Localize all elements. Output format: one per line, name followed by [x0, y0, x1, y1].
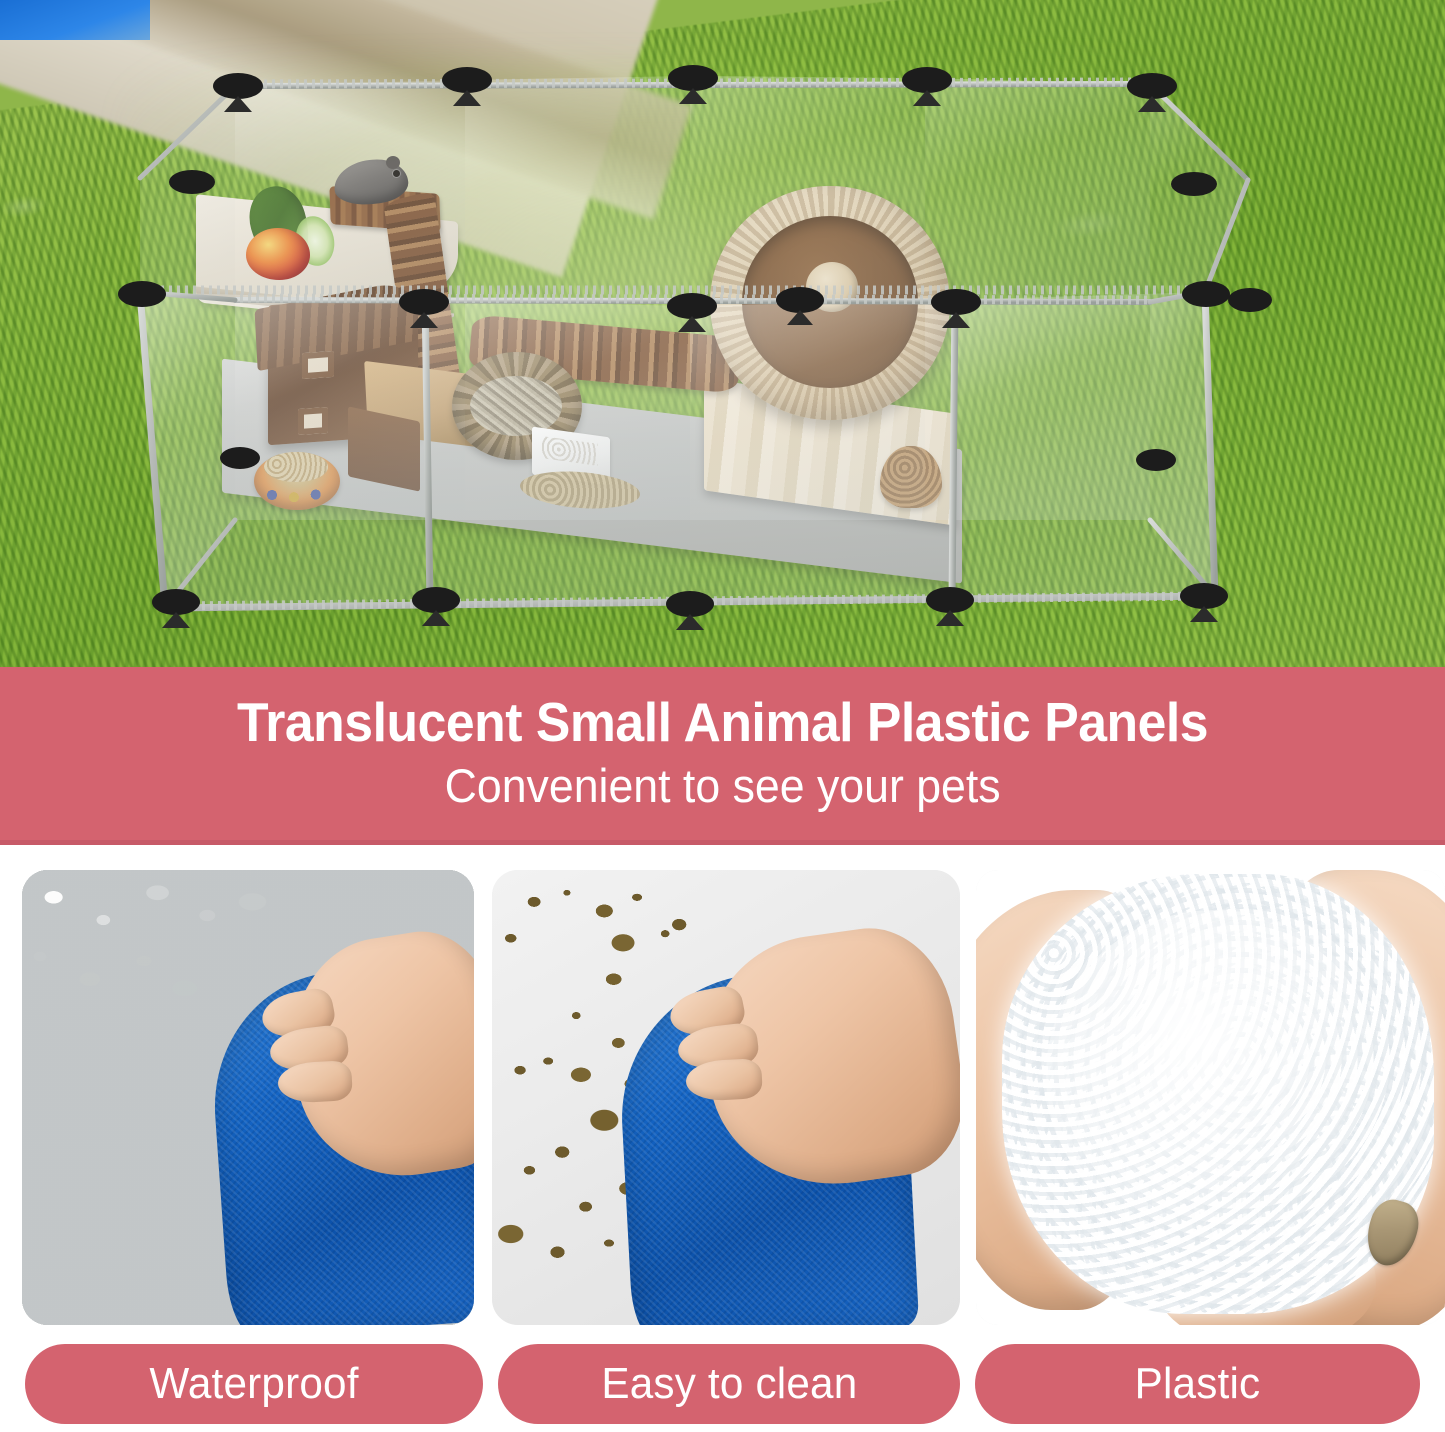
- feature-label-plastic: Plastic: [975, 1344, 1420, 1424]
- pen-front-panels: [140, 292, 1215, 608]
- feature-photo-waterproof: [22, 870, 474, 1325]
- banner-title: Translucent Small Animal Plastic Panels: [237, 694, 1208, 750]
- product-infographic: Translucent Small Animal Plastic Panels …: [0, 0, 1445, 1432]
- feature-photo-plastic: [976, 870, 1445, 1325]
- hero-product-photo: [0, 0, 1445, 668]
- feature-label-easy-to-clean: Easy to clean: [498, 1344, 960, 1424]
- headline-banner: Translucent Small Animal Plastic Panels …: [0, 667, 1445, 845]
- plastic-panel-pen: [0, 0, 1445, 668]
- pellets-highlight: [1046, 910, 1386, 1240]
- feature-label-waterproof: Waterproof: [25, 1344, 483, 1424]
- feature-label-text: Easy to clean: [601, 1359, 857, 1409]
- feature-label-text: Plastic: [1135, 1359, 1261, 1409]
- feature-label-text: Waterproof: [149, 1359, 358, 1409]
- feature-photo-easy-to-clean: [492, 870, 960, 1325]
- banner-subtitle: Convenient to see your pets: [444, 758, 1000, 813]
